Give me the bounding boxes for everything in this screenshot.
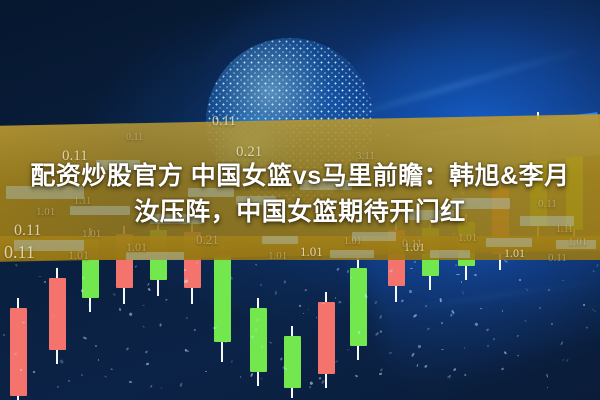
candle-body — [318, 302, 335, 374]
pale-bar — [14, 240, 84, 251]
pale-bar — [430, 250, 470, 258]
speckle — [409, 290, 412, 293]
speckle — [380, 330, 382, 333]
speckle — [548, 288, 550, 290]
candlestick-down — [318, 292, 335, 388]
speckle — [185, 349, 189, 352]
speckle — [562, 359, 564, 360]
speckle — [440, 322, 442, 325]
candlestick-up — [350, 258, 367, 360]
speckle — [128, 381, 131, 383]
speckle — [379, 372, 382, 375]
pale-bar — [486, 238, 532, 247]
speckle — [456, 274, 460, 275]
candlestick-up — [214, 246, 231, 362]
candle-body — [250, 308, 267, 372]
speckle — [501, 309, 503, 311]
news-thumbnail-image: 0.111.011.110.111.010.111.011.010.110.21… — [0, 0, 600, 400]
pale-bar — [262, 236, 298, 244]
headline-line-2: 汝压阵，中国女篮期待开门红 — [14, 194, 586, 230]
pale-bar — [556, 240, 596, 249]
speckle — [254, 328, 256, 330]
headline: 配资炒股官方 中国女篮vs马里前瞻：韩旭&李月 汝压阵，中国女篮期待开门红 — [0, 158, 600, 230]
candlestick-down — [10, 298, 27, 400]
candle-body — [350, 268, 367, 346]
speckle — [346, 349, 348, 350]
pale-bar — [126, 252, 184, 260]
pale-bar — [330, 250, 374, 258]
speckle — [582, 304, 584, 306]
speckle — [441, 348, 444, 349]
candle-body — [49, 278, 66, 350]
headline-line-1: 配资炒股官方 中国女篮vs马里前瞻：韩旭&李月 — [30, 162, 569, 190]
speckle — [239, 376, 241, 378]
speckle — [304, 289, 306, 291]
pale-bar — [352, 232, 396, 241]
candle-body — [284, 336, 301, 388]
candlestick-up — [284, 326, 301, 398]
speckle — [302, 312, 304, 314]
